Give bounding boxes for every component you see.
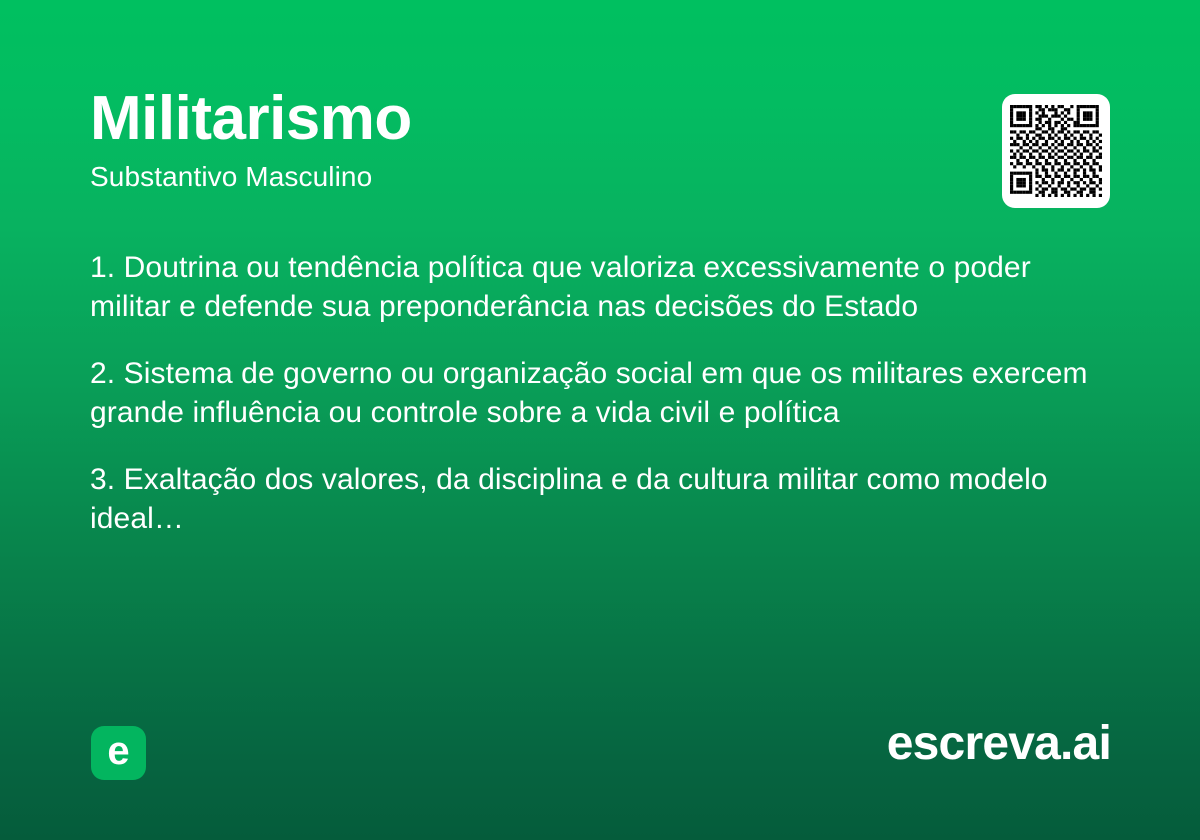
definition-item: 1. Doutrina ou tendência política que va… <box>90 248 1110 326</box>
definition-item: 2. Sistema de governo ou organização soc… <box>90 354 1110 432</box>
brand-wordmark: escreva.ai <box>887 716 1111 772</box>
qr-code-panel[interactable] <box>1002 94 1110 208</box>
brand-logo-badge: e <box>91 726 146 780</box>
word-class-label: Substantivo Masculino <box>90 160 970 194</box>
definition-item: 3. Exaltação dos valores, da disciplina … <box>90 460 1110 538</box>
definition-list: 1. Doutrina ou tendência política que va… <box>90 248 1110 538</box>
dictionary-card: Militarismo Substantivo Masculino 1. Dou… <box>0 0 1200 840</box>
page-title: Militarismo <box>90 84 970 154</box>
brand-logo-letter: e <box>107 731 129 771</box>
card-header: Militarismo Substantivo Masculino <box>90 84 970 194</box>
qr-code-icon <box>1010 105 1102 197</box>
